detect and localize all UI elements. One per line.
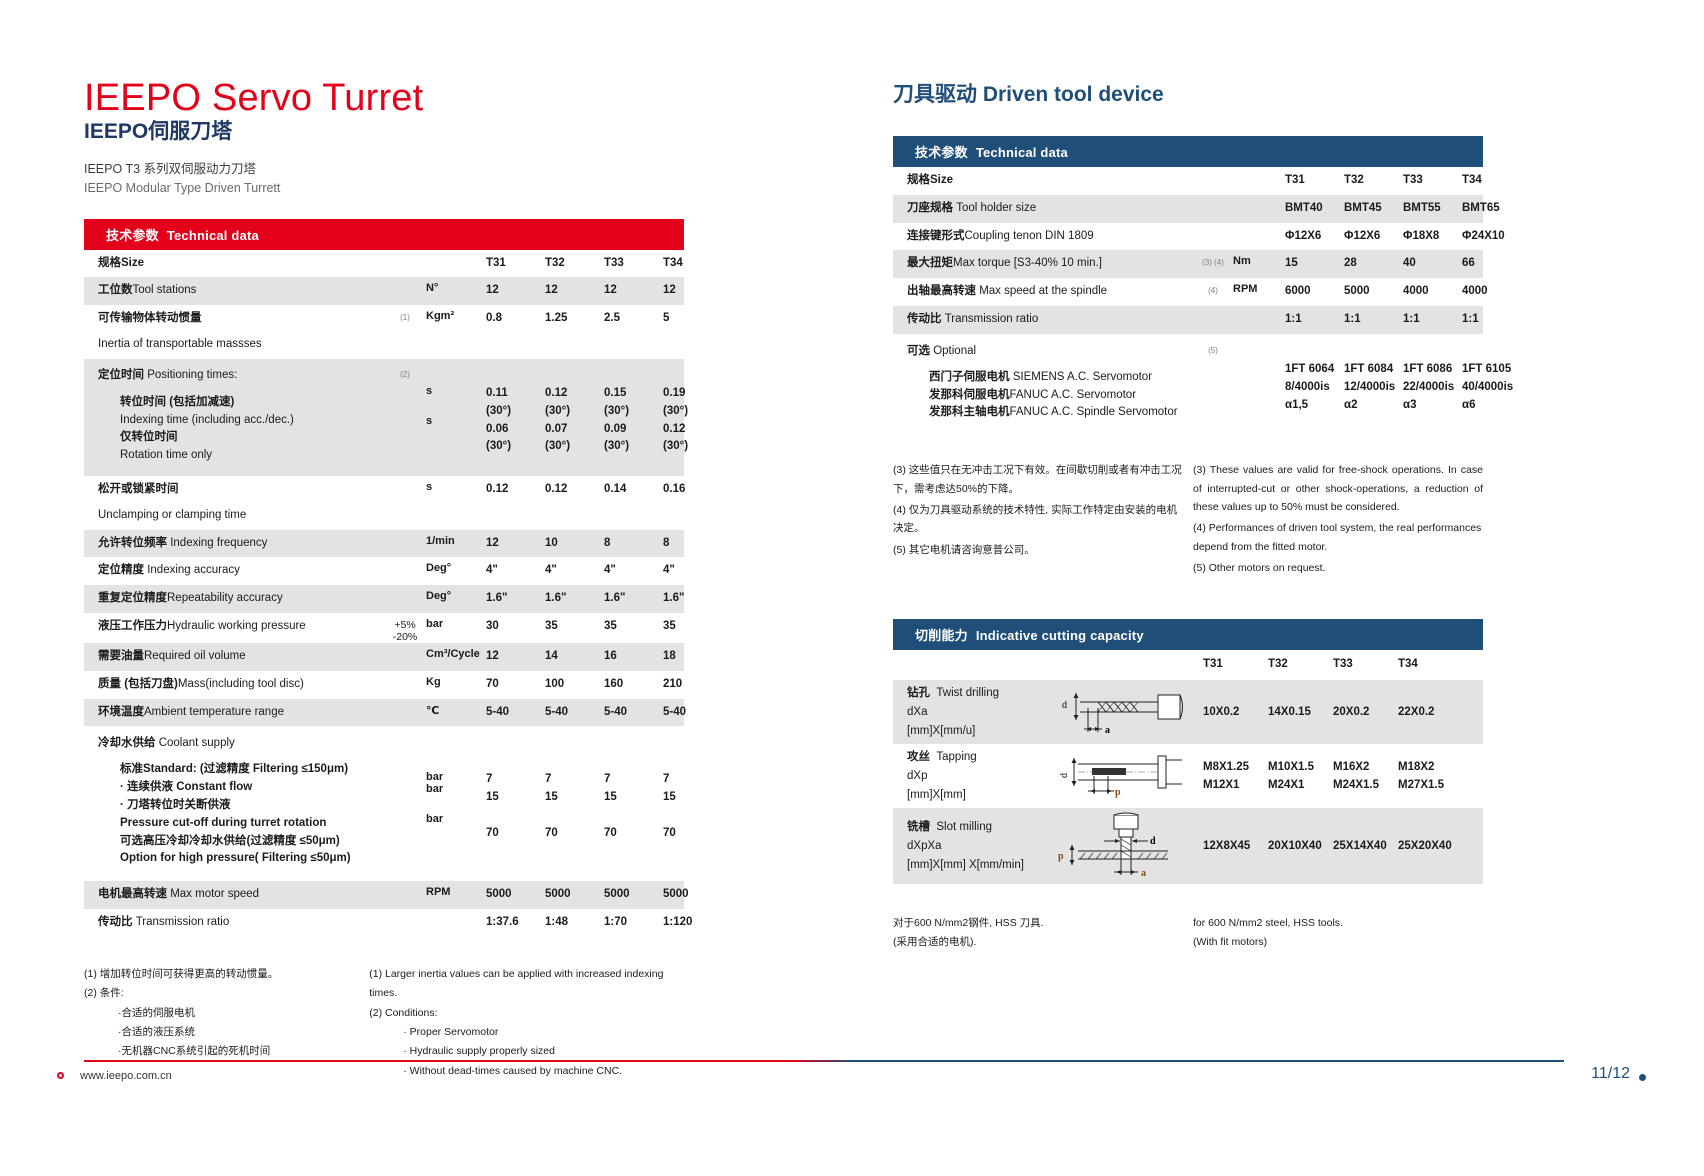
- positioning-sub1-en: Indexing time (including acc./dec.): [120, 414, 294, 426]
- cell-value: (30°): [486, 438, 545, 456]
- left-table-header: 技术参数Technical data: [84, 219, 684, 250]
- row-label-en: Transmission ratio: [136, 916, 230, 928]
- size-label: 规格Size: [907, 174, 953, 186]
- cell-value: M12X1: [1203, 776, 1268, 794]
- table-row: 工位数Tool stations N° 12 12 12 12: [84, 277, 684, 305]
- svg-text:d: d: [1059, 773, 1070, 778]
- cell-value: 5000: [486, 881, 545, 904]
- cell-value: 1.6": [545, 585, 604, 608]
- row-label-cn: 允许转位频率: [98, 537, 170, 549]
- positioning-title-en: Positioning times:: [147, 369, 237, 381]
- right-notes-en: (3) These values are valid for free-shoc…: [1193, 461, 1483, 577]
- cell-value: BMT65: [1462, 195, 1521, 218]
- cutting-units: [mm]X[mm]: [907, 786, 1053, 805]
- cell-value: 8/4000is: [1285, 379, 1344, 397]
- cutting-units: [mm]X[mm] X[mm/min]: [907, 856, 1053, 875]
- cutting-label-cn: 铣槽: [907, 821, 930, 833]
- coolant-line-2-en: Pressure cut-off during turret rotation: [120, 817, 326, 829]
- row-label-cn: 传动比: [907, 313, 945, 325]
- cell-value: 12: [486, 277, 545, 300]
- row-unit: N°: [426, 277, 486, 294]
- page-number: 11/12: [1591, 1065, 1630, 1083]
- tap-diagram-icon: d: [1053, 750, 1203, 802]
- cell-value: 12: [486, 643, 545, 666]
- cell-value: 10: [545, 530, 604, 553]
- optional-note: (5): [1193, 334, 1233, 355]
- cell-value: 12: [604, 277, 663, 300]
- table-row: 允许转位频率 Indexing frequency 1/min 12 10 8 …: [84, 530, 684, 558]
- row-unit: bar: [426, 613, 486, 630]
- table-row-optional: 可选 Optional 西门子伺服电机 SIEMENS A.C. Servomo…: [893, 334, 1483, 435]
- table-row: 环境温度Ambient temperature range ℃ 5-40 5-4…: [84, 699, 684, 727]
- row-label-en: Indexing accuracy: [147, 564, 240, 576]
- cell-value: 20X0.2: [1333, 703, 1398, 721]
- page-footer: www.ieepo.com.cn 11/12: [0, 1052, 1704, 1092]
- left-technical-table: 技术参数Technical data 规格Size T31 T32 T33 T3…: [84, 219, 684, 937]
- cell-value: BMT40: [1285, 195, 1344, 218]
- row-label-cn: 定位精度: [98, 564, 147, 576]
- row-label-en: Mass(including tool disc): [178, 678, 304, 690]
- cell-value: 15: [604, 789, 663, 807]
- row-unit: [1233, 223, 1285, 228]
- row-label-cn: 可传输物体转动惯量: [98, 312, 202, 324]
- cell-value: 100: [545, 671, 604, 694]
- cell-value: 30: [486, 613, 545, 636]
- cell-value: 15: [1285, 250, 1344, 273]
- column-header-t34: T34: [663, 250, 722, 273]
- svg-text:p: p: [1058, 851, 1064, 862]
- cell-value: 2.5: [604, 305, 663, 328]
- coolant-line-2: · 刀塔转位时关断供液: [120, 799, 231, 811]
- left-column: IEEPO Servo Turret IEEPO伺服刀塔 IEEPO T3 系列…: [84, 78, 684, 1081]
- cutting-column-header-t34: T34: [1398, 650, 1463, 680]
- coolant-title-cn: 冷却水供给: [98, 737, 156, 749]
- table-row: 定位精度 Indexing accuracy Deg° 4" 4" 4" 4": [84, 557, 684, 585]
- cell-value: 16: [604, 643, 663, 666]
- column-header-t32: T32: [545, 250, 604, 273]
- cutting-capacity-header: 切削能力Indicative cutting capacity: [893, 619, 1483, 650]
- coolant-unit-2: bar: [426, 783, 486, 795]
- row-label-cn: 工位数: [98, 284, 133, 296]
- column-header-t34: T34: [1462, 167, 1521, 190]
- right-title-cn: 刀具驱动: [893, 83, 977, 106]
- cutting-label-cn: 钻孔: [907, 687, 930, 699]
- row-note: (3) (4): [1193, 250, 1233, 267]
- cutting-column-headers: T31 T32 T33 T34: [893, 650, 1483, 680]
- cutting-note-en-1: for 600 N/mm2 steel, HSS tools.: [1193, 914, 1483, 933]
- cell-value: 0.12: [545, 476, 604, 499]
- row-unit: 1/min: [426, 530, 486, 547]
- cell-value: 5-40: [486, 699, 545, 722]
- cell-value: 5-40: [604, 699, 663, 722]
- table-row: 出轴最高转速 Max speed at the spindle (4) RPM …: [893, 278, 1483, 306]
- footer-url[interactable]: www.ieepo.com.cn: [80, 1070, 172, 1082]
- motor-1-en: SIEMENS A.C. Servomotor: [1013, 371, 1152, 383]
- cell-value: 0.12: [663, 421, 722, 439]
- cell-value: 1:1: [1403, 306, 1462, 329]
- row-unit: Kg: [426, 671, 486, 688]
- cutting-column-header-t33: T33: [1333, 650, 1398, 680]
- row-label-cn: 松开或锁紧时间: [98, 483, 179, 495]
- motor-2-cn: 发那科伺服电机: [929, 389, 1010, 401]
- cell-value: Φ12X6: [1344, 223, 1403, 246]
- right-column: 刀具驱动 Driven tool device 技术参数Technical da…: [893, 78, 1483, 952]
- coolant-unit-3: bar: [426, 813, 486, 825]
- cell-value: 10X0.2: [1203, 703, 1268, 721]
- cell-value: 0.09: [604, 421, 663, 439]
- cell-value: M24X1: [1268, 776, 1333, 794]
- note-3-en: (3) These values are valid for free-shoc…: [1193, 461, 1483, 516]
- cell-value: 70: [663, 825, 722, 843]
- cell-value: 5000: [545, 881, 604, 904]
- motor-2-en: FANUC A.C. Servomotor: [1010, 389, 1137, 401]
- cell-value: 0.19: [663, 385, 722, 403]
- cutting-label-en: Slot milling: [936, 821, 992, 833]
- cell-value: 8: [663, 530, 722, 553]
- size-label: 规格Size: [98, 257, 144, 269]
- right-table-header-cn: 技术参数: [915, 145, 968, 160]
- cell-value: 0.11: [486, 385, 545, 403]
- cell-value: 12: [545, 277, 604, 300]
- motor-3-en: FANUC A.C. Spindle Servomotor: [1010, 406, 1178, 418]
- coolant-line-3-en: Option for high pressure( Filtering ≤50μ…: [120, 852, 351, 864]
- cell-value: 15: [545, 789, 604, 807]
- cell-value: α1,5: [1285, 397, 1344, 415]
- cell-value: 7: [604, 771, 663, 789]
- cutting-notes-cn: 对于600 N/mm2钢件, HSS 刀具. (采用合适的电机).: [893, 914, 1193, 952]
- cutting-capacity-table: 切削能力Indicative cutting capacity T31 T32 …: [893, 619, 1483, 952]
- slot-mill-diagram-icon: p d a: [1053, 811, 1203, 881]
- cell-value: 5-40: [545, 699, 604, 722]
- cell-value: (30°): [604, 438, 663, 456]
- positioning-unit-1: s: [426, 385, 486, 397]
- positioning-unit-2: s: [426, 415, 486, 427]
- right-technical-table: 技术参数Technical data 规格Size T31 T32 T33 T3…: [893, 136, 1483, 435]
- table-row: 松开或锁紧时间 Unclamping or clamping time s 0.…: [84, 476, 684, 530]
- cell-value: 14: [545, 643, 604, 666]
- positioning-note: (2): [384, 359, 426, 379]
- cell-value: 5000: [1344, 278, 1403, 301]
- row-unit: [1233, 195, 1285, 200]
- positioning-sub1-cn: 转位时间 (包括加减速): [120, 396, 234, 408]
- cell-value: BMT45: [1344, 195, 1403, 218]
- row-note: [1193, 195, 1233, 203]
- row-unit: Deg°: [426, 557, 486, 574]
- right-notes-cn: (3) 这些值只在无冲击工况下有效。在间歇切削或者有冲击工况下，需考虑达50%的…: [893, 461, 1193, 577]
- cell-value: 4": [486, 557, 545, 580]
- cell-value: M18X2: [1398, 758, 1463, 776]
- coolant-title-en: Coolant supply: [159, 737, 235, 749]
- row-label-en2: Inertia of transportable massses: [98, 338, 262, 350]
- row-note: (4): [1193, 278, 1233, 295]
- cell-value: 4000: [1403, 278, 1462, 301]
- cutting-column-header-t32: T32: [1268, 650, 1333, 680]
- row-unit: RPM: [426, 881, 486, 898]
- cell-value: 0.12: [545, 385, 604, 403]
- cell-value: 4000: [1462, 278, 1521, 301]
- cell-value: Φ12X6: [1285, 223, 1344, 246]
- cell-value: M16X2: [1333, 758, 1398, 776]
- cutting-row-slot-milling: 铣槽 Slot milling dXpXa [mm]X[mm] X[mm/min…: [893, 808, 1483, 884]
- right-table-header: 技术参数Technical data: [893, 136, 1483, 167]
- cell-value: 70: [486, 825, 545, 843]
- cell-value: (30°): [545, 403, 604, 421]
- page-subtitle: IEEPO伺服刀塔: [84, 120, 684, 144]
- cell-value: 160: [604, 671, 663, 694]
- row-note: [384, 277, 426, 285]
- cell-value: 0.15: [604, 385, 663, 403]
- positioning-sub2-cn: 仅转位时间: [120, 431, 178, 443]
- column-header-t32: T32: [1344, 167, 1403, 190]
- right-section-title: 刀具驱动 Driven tool device: [893, 78, 1483, 108]
- table-row: 传动比 Transmission ratio 1:1 1:1 1:1 1:1: [893, 306, 1483, 334]
- table-row: 质量 (包括刀盘)Mass(including tool disc) Kg 70…: [84, 671, 684, 699]
- row-label-cn: 液压工作压力: [98, 620, 167, 632]
- cell-value: M27X1.5: [1398, 776, 1463, 794]
- cell-value: 22/4000is: [1403, 379, 1462, 397]
- row-label-cn: 连接键形式: [907, 230, 965, 242]
- cell-value: α2: [1344, 397, 1403, 415]
- cell-value: 7: [486, 771, 545, 789]
- footnote-bullet-1-cn: ·合适的伺服电机: [84, 1004, 369, 1023]
- row-unit: RPM: [1233, 278, 1285, 295]
- cell-value: 25X20X40: [1398, 837, 1463, 855]
- table-row: 可传输物体转动惯量 Inertia of transportable masss…: [84, 305, 684, 359]
- table-row: 重复定位精度Repeatability accuracy Deg° 1.6" 1…: [84, 585, 684, 613]
- cutting-label-en: Twist drilling: [936, 687, 999, 699]
- cell-value: 12: [663, 277, 722, 300]
- cell-value: 35: [663, 613, 722, 636]
- cell-value: 4": [663, 557, 722, 580]
- row-label-cn: 质量 (包括刀盘): [98, 678, 178, 690]
- row-label-cn: 最大扭矩: [907, 257, 953, 269]
- cell-value: α3: [1403, 397, 1462, 415]
- cell-value: 1:1: [1344, 306, 1403, 329]
- row-label-en: Max torque [S3-40% 10 min.]: [953, 257, 1102, 269]
- footer-page-dot-icon: [1639, 1074, 1646, 1081]
- svg-text:a: a: [1105, 725, 1110, 736]
- footer-rule: [84, 1060, 1564, 1062]
- svg-text:a: a: [1141, 868, 1146, 879]
- column-header-t33: T33: [604, 250, 663, 273]
- row-label-en2: Unclamping or clamping time: [98, 509, 246, 521]
- cell-value: 66: [1462, 250, 1521, 273]
- row-label-cn: 电机最高转速: [98, 888, 170, 900]
- cell-value: 210: [663, 671, 722, 694]
- table-row: 规格Size T31 T32 T33 T34: [84, 250, 684, 278]
- column-header-t33: T33: [1403, 167, 1462, 190]
- footnote-2-cn: (2) 条件:: [84, 984, 369, 1003]
- row-unit: ℃: [426, 699, 486, 717]
- row-label-en: Max speed at the spindle: [979, 285, 1107, 297]
- cell-value: 0.14: [604, 476, 663, 499]
- row-label-en: Max motor speed: [170, 888, 259, 900]
- cell-value: α6: [1462, 397, 1521, 415]
- cell-value: 1:120: [663, 909, 722, 932]
- cell-value: 7: [545, 771, 604, 789]
- cell-value: M10X1.5: [1268, 758, 1333, 776]
- cell-value: 5: [663, 305, 722, 328]
- cutting-label-cn: 攻丝: [907, 751, 930, 763]
- twist-drill-diagram-icon: d a: [1053, 686, 1203, 738]
- cell-value: 1:37.6: [486, 909, 545, 932]
- cell-value: BMT55: [1403, 195, 1462, 218]
- svg-text:p: p: [1115, 787, 1121, 798]
- cell-value: 25X14X40: [1333, 837, 1398, 855]
- row-unit: Kgm²: [426, 305, 486, 322]
- row-label-en: Tool holder size: [956, 202, 1036, 214]
- cell-value: 1:70: [604, 909, 663, 932]
- cell-value: 1.6": [486, 585, 545, 608]
- row-label-cn: 刀座规格: [907, 202, 956, 214]
- cell-value: 14X0.15: [1268, 703, 1333, 721]
- cell-value: 15: [663, 789, 722, 807]
- cell-value: 1.25: [545, 305, 604, 328]
- table-row: 规格Size T31 T32 T33 T34: [893, 167, 1483, 195]
- coolant-standard: 标准Standard: (过滤精度 Filtering ≤150μm): [120, 763, 348, 775]
- cell-value: 35: [545, 613, 604, 636]
- cutting-param: dXa: [907, 703, 1053, 722]
- cell-value: 0.16: [663, 476, 722, 499]
- row-label-cn: 出轴最高转速: [907, 285, 979, 297]
- cutting-notes: 对于600 N/mm2钢件, HSS 刀具. (采用合适的电机). for 60…: [893, 914, 1483, 952]
- cell-value: 1.6": [604, 585, 663, 608]
- row-label-en: Coupling tenon DIN 1809: [965, 230, 1094, 242]
- positioning-title-cn: 定位时间: [98, 369, 144, 381]
- table-row: 最大扭矩Max torque [S3-40% 10 min.] (3) (4) …: [893, 250, 1483, 278]
- footnote-1-en: (1) Larger inertia values can be applied…: [369, 965, 684, 1004]
- motor-3-cn: 发那科主轴电机: [929, 406, 1010, 418]
- cell-value: 1:1: [1462, 306, 1521, 329]
- table-row-positioning: 定位时间 Positioning times: 转位时间 (包括加减速) Ind…: [84, 359, 684, 476]
- cell-value: 0.12: [486, 476, 545, 499]
- table-row: 需要油量Required oil volume Cm³/Cycle 12 14 …: [84, 643, 684, 671]
- right-title-en: Driven tool device: [983, 83, 1164, 106]
- cell-value: 22X0.2: [1398, 703, 1463, 721]
- brochure-page: IEEPO Servo Turret IEEPO伺服刀塔 IEEPO T3 系列…: [0, 0, 1704, 1176]
- cell-value: 28: [1344, 250, 1403, 273]
- cutting-row-twist-drilling: 钻孔 Twist drilling dXa [mm]X[mm/u] d: [893, 680, 1483, 744]
- row-unit: Deg°: [426, 585, 486, 602]
- cell-value: 12/4000is: [1344, 379, 1403, 397]
- cutting-notes-en: for 600 N/mm2 steel, HSS tools. (With fi…: [1193, 914, 1483, 952]
- cutting-note-cn-1: 对于600 N/mm2钢件, HSS 刀具.: [893, 914, 1193, 933]
- cutting-header-en: Indicative cutting capacity: [976, 628, 1144, 643]
- cell-value: Φ18X8: [1403, 223, 1462, 246]
- pressure-tolerance-plus: +5%: [384, 619, 426, 631]
- cell-value: 40: [1403, 250, 1462, 273]
- optional-title-cn: 可选: [907, 345, 933, 357]
- cell-value: 70: [604, 825, 663, 843]
- left-table-header-en: Technical data: [167, 228, 259, 243]
- column-header-t31: T31: [486, 250, 545, 273]
- cell-value: 12: [486, 530, 545, 553]
- positioning-sub2-en: Rotation time only: [120, 449, 212, 461]
- left-table-header-cn: 技术参数: [106, 228, 159, 243]
- svg-text:d: d: [1062, 700, 1067, 711]
- cutting-note-en-2: (With fit motors): [1193, 933, 1483, 952]
- right-table-header-en: Technical data: [976, 145, 1068, 160]
- right-notes: (3) 这些值只在无冲击工况下有效。在间歇切削或者有冲击工况下，需考虑达50%的…: [893, 461, 1483, 577]
- cell-value: 6000: [1285, 278, 1344, 301]
- note-4-en: (4) Performances of driven tool system, …: [1193, 519, 1483, 556]
- cell-value: 1FT 6105: [1462, 361, 1521, 379]
- footnote-1-cn: (1) 增加转位时间可获得更高的转动惯量。: [84, 965, 369, 984]
- cell-value: 0.06: [486, 421, 545, 439]
- coolant-line-3: 可选高压冷却冷却水供给(过滤精度 ≤50μm): [120, 835, 340, 847]
- row-unit: Nm: [1233, 250, 1285, 267]
- row-label-cn: 重复定位精度: [98, 592, 167, 604]
- page-title: IEEPO Servo Turret: [84, 78, 684, 118]
- svg-text:d: d: [1150, 836, 1156, 847]
- cell-value: (30°): [545, 438, 604, 456]
- footnote-bullet-2-cn: ·合适的液压系统: [84, 1023, 369, 1042]
- cell-value: 1:1: [1285, 306, 1344, 329]
- table-row: 连接键形式Coupling tenon DIN 1809 Φ12X6 Φ12X6…: [893, 223, 1483, 251]
- cell-value: 5000: [663, 881, 722, 904]
- row-unit: Cm³/Cycle: [426, 643, 486, 660]
- row-label-en: Transmission ratio: [945, 313, 1039, 325]
- row-note: [1193, 223, 1233, 231]
- coolant-unit-1: bar: [426, 771, 486, 783]
- row-label-cn: 需要油量: [98, 650, 144, 662]
- cell-value: (30°): [604, 403, 663, 421]
- cell-value: 5000: [604, 881, 663, 904]
- cell-value: 8: [604, 530, 663, 553]
- cell-value: 40/4000is: [1462, 379, 1521, 397]
- cell-value: 20X10X40: [1268, 837, 1333, 855]
- cell-value: 35: [604, 613, 663, 636]
- cell-value: 18: [663, 643, 722, 666]
- cell-value: 1:48: [545, 909, 604, 932]
- cutting-param: dXp: [907, 767, 1053, 786]
- cell-value: (30°): [663, 403, 722, 421]
- cell-value: 1FT 6086: [1403, 361, 1462, 379]
- cell-value: (30°): [663, 438, 722, 456]
- cell-value: M24X1.5: [1333, 776, 1398, 794]
- row-note: (1): [384, 305, 426, 322]
- cell-value: 0.07: [545, 421, 604, 439]
- column-header-t31: T31: [1285, 167, 1344, 190]
- note-5-cn: (5) 其它电机请咨询意普公司。: [893, 541, 1183, 559]
- cell-value: 70: [545, 825, 604, 843]
- cell-value: 1.6": [663, 585, 722, 608]
- cutting-param: dXpXa: [907, 837, 1053, 856]
- cell-value: 7: [663, 771, 722, 789]
- table-row: 电机最高转速 Max motor speed RPM 5000 5000 500…: [84, 881, 684, 909]
- note-3-cn: (3) 这些值只在无冲击工况下有效。在间歇切削或者有冲击工况下，需考虑达50%的…: [893, 461, 1183, 498]
- row-label-en: Repeatability accuracy: [167, 592, 283, 604]
- row-label-en: Ambient temperature range: [144, 706, 284, 718]
- footnote-2-en: (2) Conditions:: [369, 1004, 684, 1023]
- cell-value: 4": [604, 557, 663, 580]
- coolant-line-1: · 连续供液 Constant flow: [120, 781, 252, 793]
- row-label-en: Hydraulic working pressure: [167, 620, 306, 632]
- cell-value: 12X8X45: [1203, 837, 1268, 855]
- cell-value: 1FT 6084: [1344, 361, 1403, 379]
- row-label-en: Tool stations: [133, 284, 197, 296]
- cell-value: 70: [486, 671, 545, 694]
- optional-title-en: Optional: [933, 345, 976, 357]
- model-line-en: IEEPO Modular Type Driven Turrett: [84, 179, 684, 197]
- cell-value: 15: [486, 789, 545, 807]
- table-row: 传动比 Transmission ratio 1:37.6 1:48 1:70 …: [84, 909, 684, 937]
- row-label-en: Indexing frequency: [170, 537, 267, 549]
- note-5-en: (5) Other motors on request.: [1193, 559, 1483, 577]
- table-row-coolant: 冷却水供给 Coolant supply 标准Standard: (过滤精度 F…: [84, 726, 684, 881]
- row-label-cn: 传动比: [98, 916, 136, 928]
- cutting-units: [mm]X[mm/u]: [907, 722, 1053, 741]
